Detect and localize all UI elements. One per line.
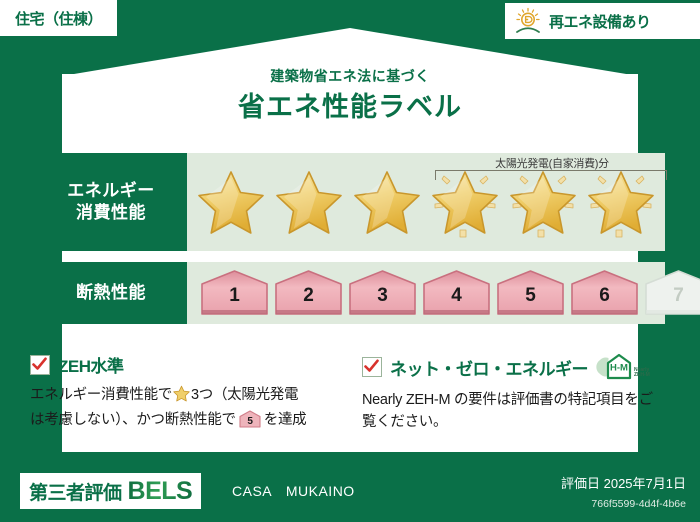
star-icon xyxy=(271,166,347,238)
energy-label-line2: 消費性能 xyxy=(76,202,146,224)
star-rating xyxy=(187,166,659,238)
zeh-text-part1: エネルギー消費性能で xyxy=(30,387,172,403)
net-zero-energy-heading: ネット・ゼロ・エネルギー H-M Nearly ZEH-M xyxy=(362,352,662,382)
svg-text:H-M: H-M xyxy=(610,363,628,374)
check-icon xyxy=(362,357,382,377)
evaluation-date: 評価日 2025年7月1日 xyxy=(561,473,686,492)
zeh-standard-text: エネルギー消費性能で3つ（太陽光発電は考慮しない）、かつ断熱性能で5を達成 xyxy=(30,384,330,436)
badge-building-type: 住宅（住棟） xyxy=(0,0,117,36)
zeh-text-part2: は考慮しない）、かつ断熱性能で xyxy=(30,412,236,428)
badge-renewable-label: 再エネ設備あり xyxy=(549,11,651,32)
insulation-grade-number: 5 xyxy=(495,285,566,307)
insulation-grade-badge: 5 xyxy=(495,269,566,317)
zeh-text-part3: を達成 xyxy=(264,412,307,428)
insulation-grade-number: 2 xyxy=(273,285,344,307)
energy-stars-area: 太陽光発電(自家消費)分 xyxy=(187,153,665,251)
insulation-label: 断熱性能 xyxy=(76,282,146,304)
bels-jp-label: 第三者評価 xyxy=(29,478,122,505)
zeh-text-starcount: 3つ（太陽光発電 xyxy=(191,387,298,403)
energy-performance-label: 住宅（住棟） 再エネ設備あり 建築物省エネ法に基づく 省エ xyxy=(0,0,700,522)
insulation-grade-number: 1 xyxy=(199,285,270,307)
insulation-grade-badge: 1 xyxy=(199,269,270,317)
net-zero-energy-text: Nearly ZEH-M の要件は評価書の特記項目をご覧ください。 xyxy=(362,389,662,434)
star-solar-icon xyxy=(427,166,503,238)
sun-solar-icon xyxy=(513,7,543,35)
zeh-standard-block: ZEH水準 エネルギー消費性能で3つ（太陽光発電は考慮しない）、かつ断熱性能で5… xyxy=(30,352,330,436)
badge-renewable-equipment: 再エネ設備あり xyxy=(505,3,700,39)
insulation-grade-number: 6 xyxy=(569,285,640,307)
net-zero-energy-block: ネット・ゼロ・エネルギー H-M Nearly ZEH-M Nearly ZEH… xyxy=(362,352,662,434)
insulation-grade-badge: 3 xyxy=(347,269,418,317)
star-solar-icon xyxy=(505,166,581,238)
star-icon xyxy=(349,166,425,238)
insulation-grades-area: 1 2 3 4 xyxy=(187,262,700,324)
insulation-grade-number: 3 xyxy=(347,285,418,307)
inline-star-icon xyxy=(173,390,190,406)
zeh-standard-title: ZEH水準 xyxy=(58,352,124,377)
svg-text:5: 5 xyxy=(247,417,253,428)
certificate-id: 766f5599-4d4f-4b6e xyxy=(591,498,686,510)
insulation-grade-badge: 6 xyxy=(569,269,640,317)
insulation-grade-badge: 2 xyxy=(273,269,344,317)
label-subtitle: 建築物省エネ法に基づく xyxy=(0,66,700,86)
insulation-grade-number: 4 xyxy=(421,285,492,307)
svg-text:ZEH-M: ZEH-M xyxy=(634,372,650,378)
net-zero-energy-title: ネット・ゼロ・エネルギー xyxy=(390,355,588,380)
building-name: CASA MUKAINO xyxy=(232,481,355,501)
insulation-performance-row: 断熱性能 1 2 xyxy=(35,262,665,324)
energy-performance-label-cell: エネルギー 消費性能 xyxy=(35,153,187,251)
label-title: 省エネ性能ラベル xyxy=(0,85,700,124)
insulation-grade-badge: 4 xyxy=(421,269,492,317)
insulation-grade-number: 7 xyxy=(643,285,700,307)
energy-performance-row: エネルギー 消費性能 太陽光発電(自家消費)分 xyxy=(35,153,665,251)
bels-logo-text: BELS xyxy=(128,477,193,506)
zeh-m-logo-icon: H-M Nearly ZEH-M xyxy=(596,352,650,382)
zeh-standard-heading: ZEH水準 xyxy=(30,352,330,377)
badge-building-type-label: 住宅（住棟） xyxy=(15,8,102,29)
energy-label-line1: エネルギー xyxy=(67,180,155,202)
insulation-grade-badge: 7 xyxy=(643,269,700,317)
star-solar-icon xyxy=(583,166,659,238)
star-icon xyxy=(193,166,269,238)
insulation-grade-list: 1 2 3 4 xyxy=(187,269,700,317)
bels-certification-badge: 第三者評価 BELS xyxy=(20,473,201,509)
inline-grade-badge: 5 xyxy=(238,416,262,432)
check-icon xyxy=(30,355,50,375)
insulation-performance-label-cell: 断熱性能 xyxy=(35,262,187,324)
